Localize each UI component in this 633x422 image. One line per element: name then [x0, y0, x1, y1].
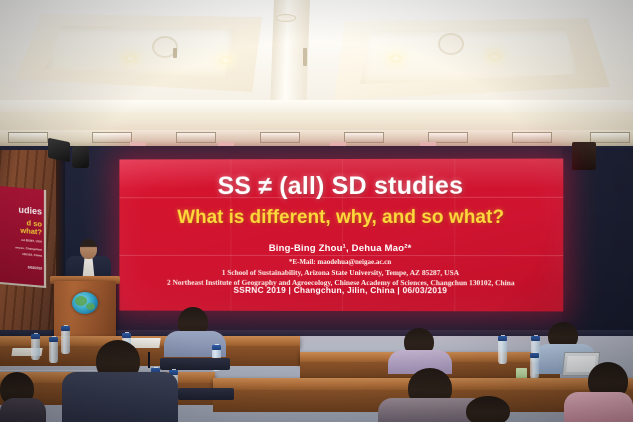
audience-body-7 [564, 392, 633, 422]
ceiling-plate-right [438, 33, 464, 55]
side-display-subtitle: d so what? [4, 217, 42, 236]
ceiling-hanger [303, 48, 307, 66]
wall-speaker-right [572, 142, 596, 170]
track-fixture-7 [512, 132, 552, 143]
led-wall-display[interactable]: SS ≠ (all) SD studies What is different,… [119, 159, 563, 312]
track-fixture-5 [344, 132, 384, 143]
downlight-2 [218, 56, 233, 65]
water-bottle-5-cap [212, 345, 221, 350]
downlight-4 [487, 52, 502, 61]
side-display-monitor[interactable]: udies d so what? nd 85287, USA ences, Ch… [0, 186, 46, 288]
water-bottle-8-cap [530, 353, 539, 358]
microphone-stand [148, 352, 150, 368]
track-fixture-4 [260, 132, 300, 143]
slide-footer: SSRNC 2019 | Changchun, Jilin, China | 0… [119, 285, 563, 296]
downlight-3 [388, 54, 403, 63]
slide-email: *E-Mail: maodehua@neigae.ac.cn [127, 257, 555, 265]
water-bottle-3-cap [49, 337, 58, 342]
water-bottle-2[interactable] [31, 338, 40, 360]
downlight-1 [123, 54, 138, 63]
right-wall-panel [562, 148, 633, 338]
lecture-hall-scene: udies d so what? nd 85287, USA ences, Ch… [0, 0, 633, 422]
slide-content: SS ≠ (all) SD studies What is different,… [119, 159, 563, 312]
side-display-line-b: ences, Changchun 130102, China [4, 244, 42, 259]
audience-body-4 [62, 372, 178, 422]
water-bottle-7-cap [531, 336, 540, 341]
presenter-head [80, 239, 97, 259]
water-bottle-1-cap [61, 326, 70, 331]
water-bottle-2-cap [31, 334, 40, 339]
slide-title: SS ≠ (all) SD studies [127, 173, 555, 200]
smoke-detector-icon [276, 14, 296, 22]
slide-authors: Bing-Bing Zhou¹, Dehua Mao²* [127, 243, 555, 255]
track-fixture-2 [92, 132, 132, 143]
track-fixture-3 [176, 132, 216, 143]
water-bottle-4-cap [122, 333, 131, 338]
audience-body-8 [0, 398, 46, 422]
water-bottle-6[interactable] [498, 340, 507, 364]
sprinkler-icon [173, 48, 177, 58]
desk-row-far-left-front [0, 346, 300, 366]
water-bottle-1[interactable] [61, 330, 70, 354]
desk-monitor-2 [178, 388, 234, 400]
water-bottle-8[interactable] [530, 357, 539, 379]
water-bottle-6-cap [498, 336, 507, 341]
desk-monitor-1 [160, 358, 230, 370]
wall-speaker-left-2 [72, 146, 89, 168]
track-fixture-1 [8, 132, 48, 143]
slide-subtitle: What is different, why, and so what? [127, 208, 555, 228]
water-bottle-3[interactable] [49, 341, 58, 363]
side-display-title: udies [4, 204, 42, 217]
audience-head-6 [466, 396, 510, 422]
ceiling [0, 0, 633, 148]
globe-emblem-icon [72, 292, 98, 314]
track-fixture-8 [590, 132, 630, 143]
side-display-footer: 6/03/2019 [4, 264, 42, 271]
slide-affiliation-1: 1 School of Sustainability, Arizona Stat… [127, 267, 555, 278]
